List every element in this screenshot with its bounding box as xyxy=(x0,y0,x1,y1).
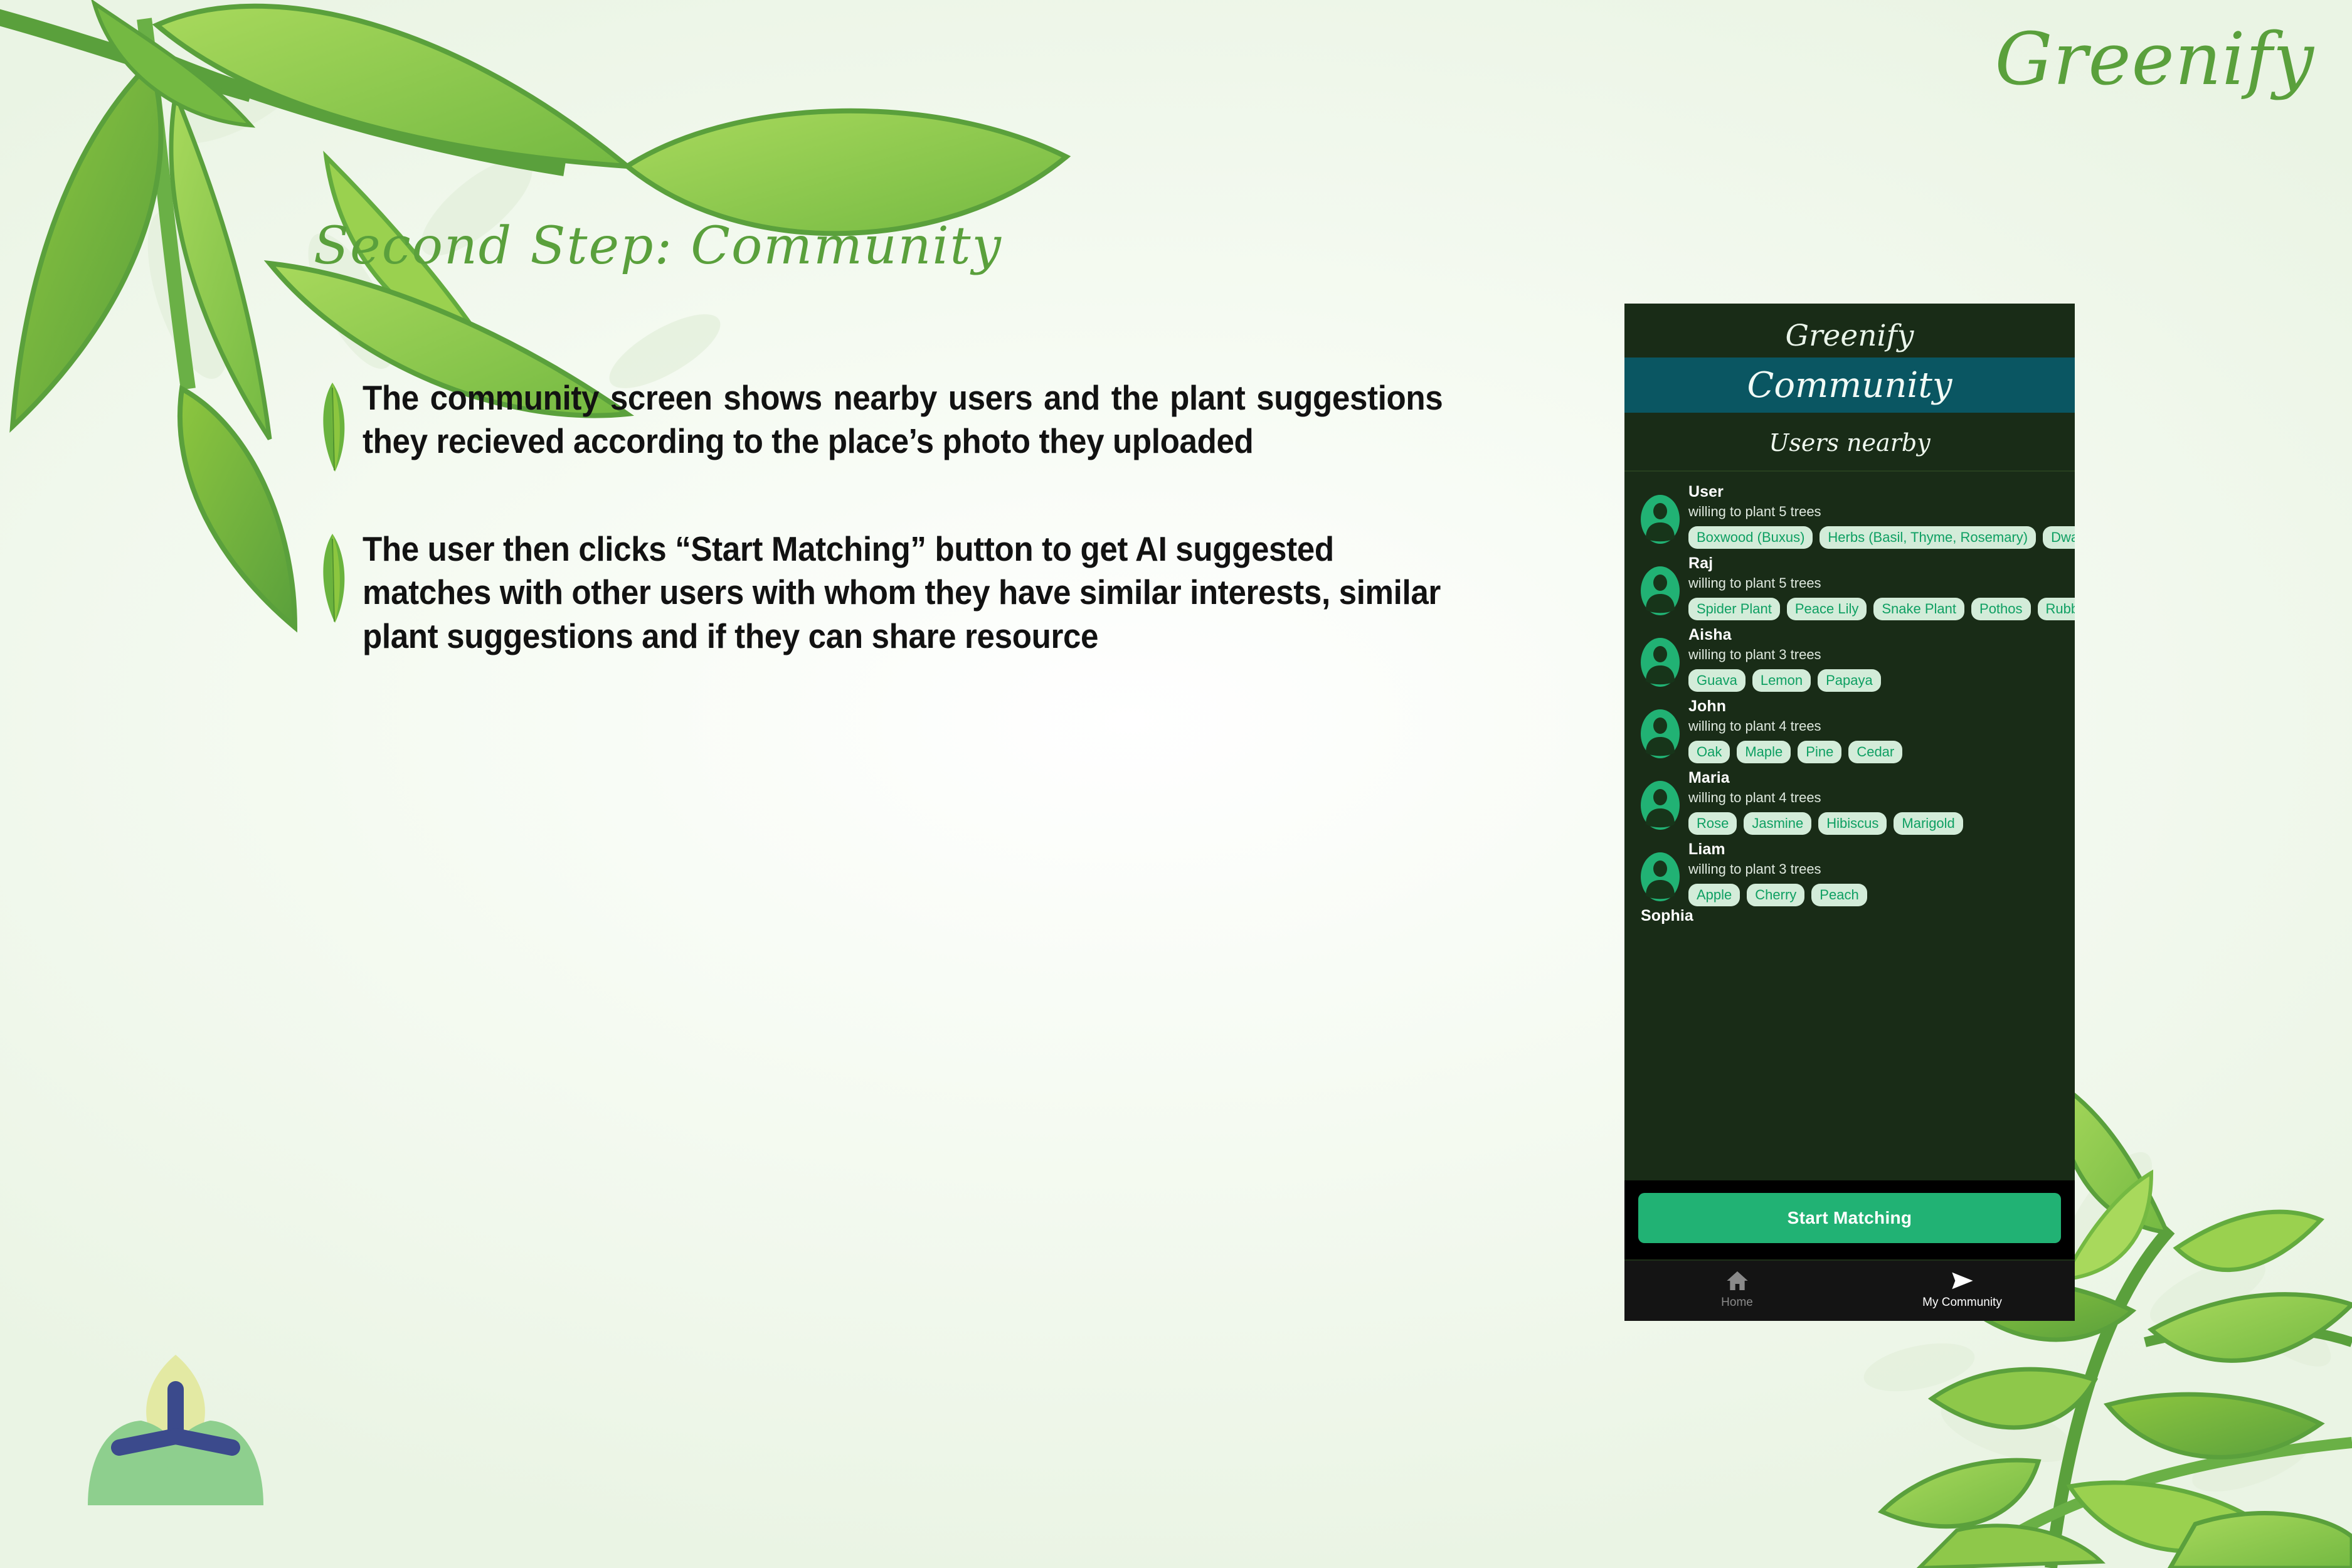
avatar xyxy=(1641,494,1680,544)
plant-chip[interactable]: Cherry xyxy=(1747,884,1804,906)
plant-chip[interactable]: Boxwood (Buxus) xyxy=(1688,526,1813,549)
plant-chip[interactable]: Oak xyxy=(1688,741,1730,763)
leaf-bullet-icon xyxy=(314,531,363,628)
bullet-text: The community screen shows nearby users … xyxy=(363,376,1443,464)
bottom-navigation: Home My Community xyxy=(1624,1259,2075,1321)
bullet-text: The user then clicks “Start Matching” bu… xyxy=(363,527,1443,658)
user-name: Liam xyxy=(1688,840,2075,859)
user-subtitle: willing to plant 5 trees xyxy=(1688,575,2075,593)
plant-chip-row: Boxwood (Buxus)Herbs (Basil, Thyme, Rose… xyxy=(1688,526,2075,549)
user-name: Maria xyxy=(1688,769,2075,787)
user-row[interactable]: Sophia xyxy=(1624,901,2075,967)
list-item: The community screen shows nearby users … xyxy=(314,376,1524,477)
plant-chip[interactable]: Pothos xyxy=(1971,598,2031,620)
plant-chip[interactable]: Dwarf Citrus xyxy=(2043,526,2075,549)
user-info: Mariawilling to plant 4 treesRoseJasmine… xyxy=(1688,769,2075,835)
send-icon xyxy=(1948,1268,1977,1293)
plant-chip[interactable]: Peace Lily xyxy=(1787,598,1867,620)
nav-item-my-community[interactable]: My Community xyxy=(1850,1261,2075,1321)
plant-chip-row: RoseJasmineHibiscusMarigold xyxy=(1688,812,2075,835)
plant-chip[interactable]: Lemon xyxy=(1752,669,1811,692)
bullet-list: The community screen shows nearby users … xyxy=(314,376,1524,708)
user-row[interactable]: Liamwilling to plant 3 treesAppleCherryP… xyxy=(1624,829,2075,901)
plant-chip-row: OakMaplePineCedar xyxy=(1688,741,2075,763)
user-subtitle: willing to plant 4 trees xyxy=(1688,718,2075,736)
user-info: Rajwilling to plant 5 treesSpider PlantP… xyxy=(1688,554,2075,620)
user-row[interactable]: Rajwilling to plant 5 treesSpider PlantP… xyxy=(1624,543,2075,615)
start-matching-button[interactable]: Start Matching xyxy=(1638,1193,2061,1243)
sprout-logo-icon xyxy=(82,1348,270,1524)
user-row[interactable]: Userwilling to plant 5 treesBoxwood (Bux… xyxy=(1624,472,2075,543)
avatar xyxy=(1641,852,1680,902)
plant-chip[interactable]: Peach xyxy=(1811,884,1867,906)
user-info: Liamwilling to plant 3 treesAppleCherryP… xyxy=(1688,840,2075,906)
avatar xyxy=(1641,566,1680,616)
user-name: Raj xyxy=(1688,554,2075,573)
plant-chip[interactable]: Herbs (Basil, Thyme, Rosemary) xyxy=(1820,526,2036,549)
plant-chip[interactable]: Spider Plant xyxy=(1688,598,1780,620)
section-title-users-nearby: Users nearby xyxy=(1624,413,2075,472)
brand-logo: Greenify xyxy=(1995,18,2314,102)
home-icon xyxy=(1724,1268,1751,1293)
plant-chip[interactable]: Apple xyxy=(1688,884,1740,906)
plant-chip[interactable]: Cedar xyxy=(1848,741,1902,763)
screen-title-banner: Community xyxy=(1624,358,2075,413)
avatar xyxy=(1641,709,1680,759)
plant-chip[interactable]: Pine xyxy=(1798,741,1841,763)
plant-chip[interactable]: Marigold xyxy=(1894,812,1963,835)
cta-container: Start Matching xyxy=(1624,1180,2075,1259)
user-name: John xyxy=(1688,697,2075,716)
user-info: Aishawilling to plant 3 treesGuavaLemonP… xyxy=(1688,626,2075,692)
nav-label-my-community: My Community xyxy=(1922,1296,2002,1310)
user-row[interactable]: Johnwilling to plant 4 treesOakMaplePine… xyxy=(1624,686,2075,758)
user-subtitle: willing to plant 5 trees xyxy=(1688,503,2075,521)
plant-chip-row: GuavaLemonPapaya xyxy=(1688,669,2075,692)
plant-chip[interactable]: Snake Plant xyxy=(1873,598,1964,620)
user-info: Userwilling to plant 5 treesBoxwood (Bux… xyxy=(1688,483,2075,549)
user-info: Johnwilling to plant 4 treesOakMaplePine… xyxy=(1688,697,2075,763)
plant-chip[interactable]: Jasmine xyxy=(1744,812,1811,835)
nav-item-home[interactable]: Home xyxy=(1624,1261,1850,1321)
user-subtitle: willing to plant 4 trees xyxy=(1688,789,2075,807)
plant-chip[interactable]: Hibiscus xyxy=(1818,812,1887,835)
list-item: The user then clicks “Start Matching” bu… xyxy=(314,527,1524,658)
avatar xyxy=(1641,780,1680,830)
user-row[interactable]: Mariawilling to plant 4 treesRoseJasmine… xyxy=(1624,758,2075,829)
plant-chip[interactable]: Guava xyxy=(1688,669,1745,692)
plant-chip[interactable]: Maple xyxy=(1737,741,1791,763)
users-nearby-list[interactable]: Userwilling to plant 5 treesBoxwood (Bux… xyxy=(1624,472,2075,1180)
leaf-bullet-icon xyxy=(314,380,363,477)
phone-mockup: Greenify Community Users nearby Userwill… xyxy=(1624,304,2075,1321)
user-info: Sophia xyxy=(1641,907,2075,925)
app-brand-title: Greenify xyxy=(1624,304,2075,358)
user-name: Aisha xyxy=(1688,626,2075,644)
plant-chip-row: Spider PlantPeace LilySnake PlantPothosR… xyxy=(1688,598,2075,620)
nav-label-home: Home xyxy=(1721,1296,1753,1310)
user-subtitle: willing to plant 3 trees xyxy=(1688,861,2075,879)
plant-chip[interactable]: Rose xyxy=(1688,812,1737,835)
user-name: Sophia xyxy=(1641,907,2075,925)
plant-chip[interactable]: Papaya xyxy=(1818,669,1881,692)
page-title: Second Step: Community xyxy=(314,216,1002,276)
plant-chip-row: AppleCherryPeach xyxy=(1688,884,2075,906)
avatar xyxy=(1641,637,1680,687)
plant-chip[interactable]: Rubber Plant xyxy=(2038,598,2075,620)
user-name: User xyxy=(1688,483,2075,501)
user-row[interactable]: Aishawilling to plant 3 treesGuavaLemonP… xyxy=(1624,615,2075,686)
user-subtitle: willing to plant 3 trees xyxy=(1688,646,2075,664)
